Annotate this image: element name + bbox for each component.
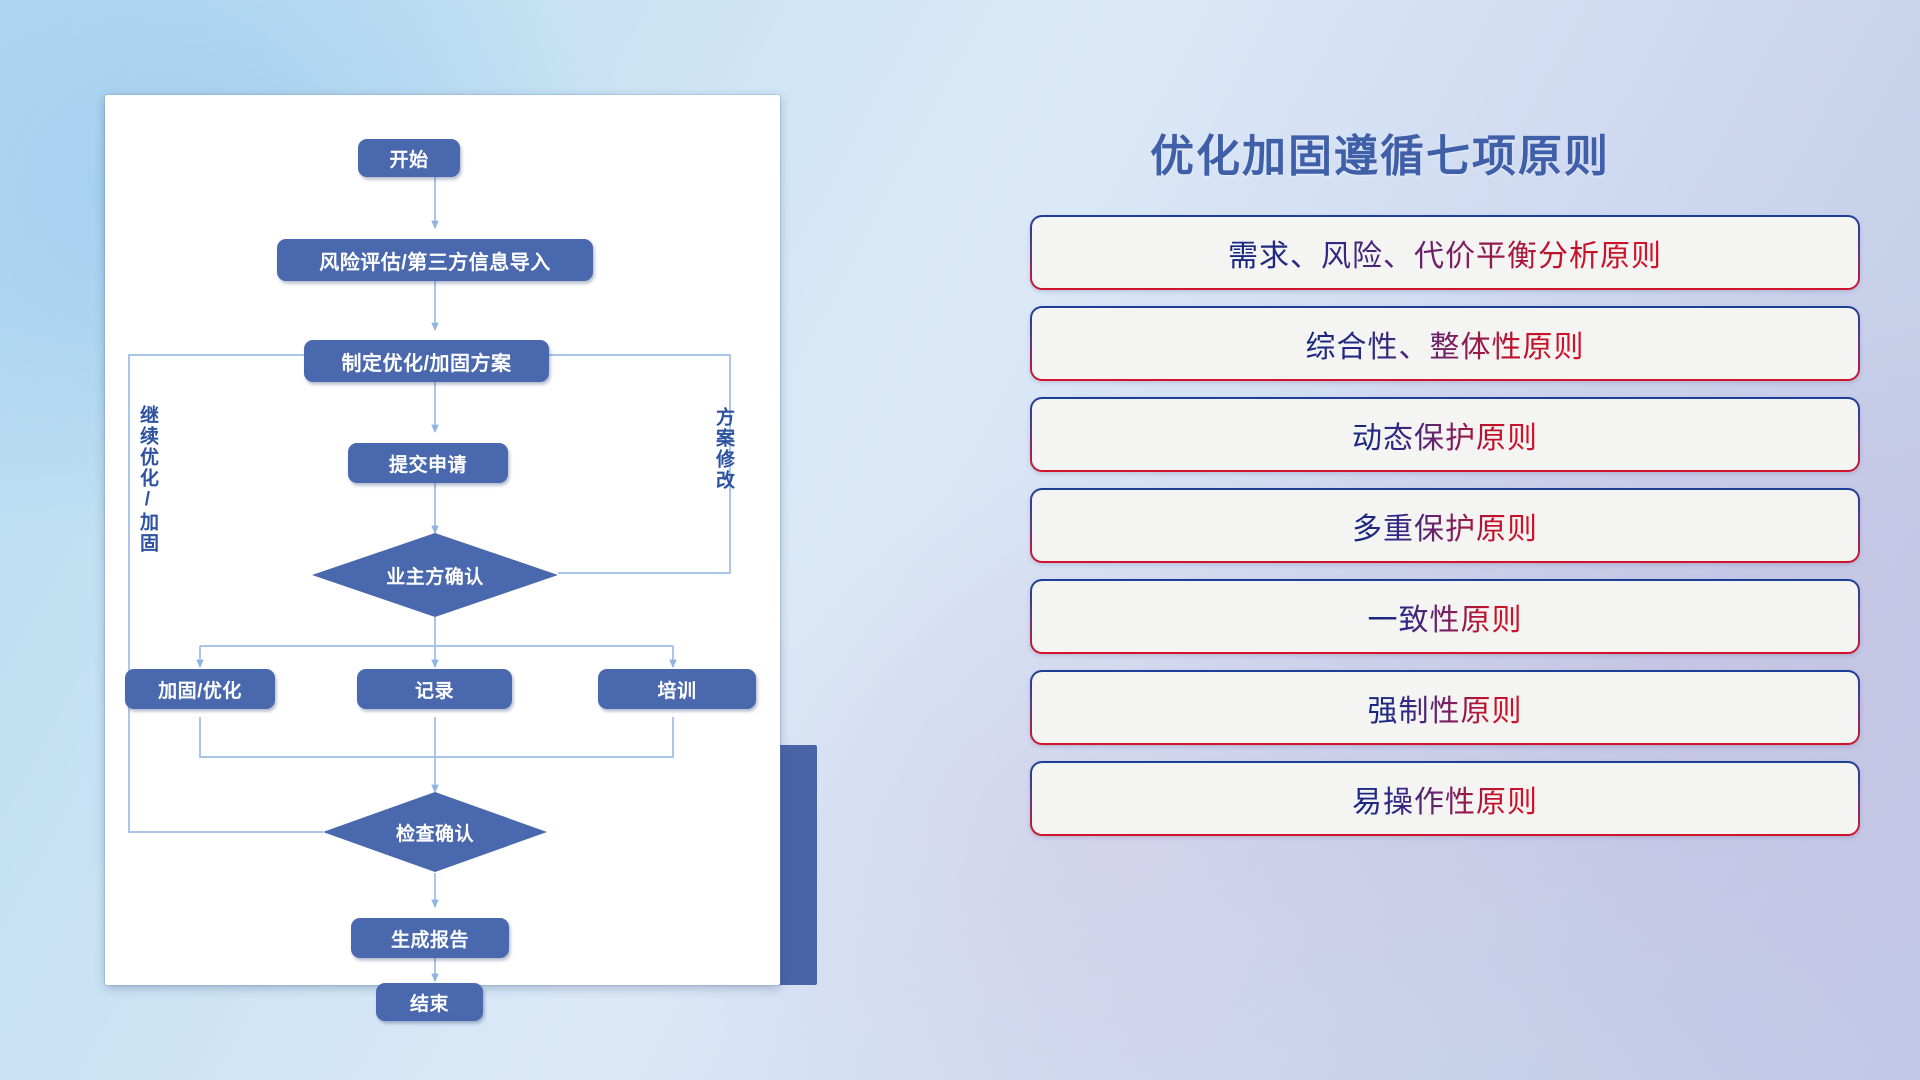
loop-label-left: 继续优化/加固 (137, 405, 157, 554)
flow-node-training[interactable]: 培训 (598, 669, 756, 709)
principle-card-face: 强制性原则 (1032, 672, 1858, 743)
principle-label: 需求、风险、代价平衡分析原则 (1228, 231, 1662, 275)
flow-node-start[interactable]: 开始 (358, 139, 460, 177)
loop-label-right: 方案修改 (713, 407, 733, 491)
principle-card-face: 动态保护原则 (1032, 399, 1858, 470)
flow-node-submit[interactable]: 提交申请 (348, 443, 508, 483)
principle-card[interactable]: 需求、风险、代价平衡分析原则 (1030, 215, 1860, 290)
flow-node-label: 培训 (657, 676, 696, 703)
principle-label: 强制性原则 (1368, 686, 1523, 730)
flow-node-record[interactable]: 记录 (357, 669, 512, 709)
principle-card-face: 易操作性原则 (1032, 763, 1858, 834)
flow-node-label: 结束 (410, 989, 449, 1016)
principle-label: 综合性、整体性原则 (1306, 322, 1585, 366)
principle-card[interactable]: 动态保护原则 (1030, 397, 1860, 472)
flow-node-check-confirm[interactable]: 检查确认 (323, 792, 547, 872)
flow-node-reinforce[interactable]: 加固/优化 (125, 669, 275, 709)
flow-node-label: 加固/优化 (158, 676, 242, 703)
principle-card[interactable]: 一致性原则 (1030, 579, 1860, 654)
principle-card[interactable]: 强制性原则 (1030, 670, 1860, 745)
principle-card[interactable]: 多重保护原则 (1030, 488, 1860, 563)
principle-card-face: 多重保护原则 (1032, 490, 1858, 561)
flow-node-plan[interactable]: 制定优化/加固方案 (304, 340, 549, 382)
principle-card-face: 需求、风险、代价平衡分析原则 (1032, 217, 1858, 288)
principle-card-face: 一致性原则 (1032, 581, 1858, 652)
principles-list: 需求、风险、代价平衡分析原则 综合性、整体性原则 动态保护原则 多重保护原则 (1030, 215, 1860, 852)
flow-node-label: 开始 (389, 145, 428, 172)
flow-node-label: 风险评估/第三方信息导入 (319, 246, 551, 275)
flow-node-label: 记录 (415, 676, 454, 703)
flow-node-end[interactable]: 结束 (376, 983, 483, 1021)
principle-card-face: 综合性、整体性原则 (1032, 308, 1858, 379)
flowchart-card: 开始 风险评估/第三方信息导入 制定优化/加固方案 提交申请 业主方确认 加固/… (105, 95, 780, 985)
flow-node-label: 生成报告 (391, 925, 469, 952)
flow-node-risk-assessment[interactable]: 风险评估/第三方信息导入 (277, 239, 593, 281)
panel-title: 优化加固遵循七项原则 (1150, 120, 1610, 184)
flow-node-report[interactable]: 生成报告 (351, 918, 509, 958)
principle-label: 动态保护原则 (1352, 413, 1538, 457)
principle-card[interactable]: 易操作性原则 (1030, 761, 1860, 836)
principle-card[interactable]: 综合性、整体性原则 (1030, 306, 1860, 381)
flow-node-label: 制定优化/加固方案 (341, 347, 511, 376)
flow-node-owner-confirm[interactable]: 业主方确认 (312, 533, 558, 617)
flow-node-label: 检查确认 (396, 819, 474, 846)
flowchart-canvas: 开始 风险评估/第三方信息导入 制定优化/加固方案 提交申请 业主方确认 加固/… (105, 95, 780, 985)
principles-panel: 优化加固遵循七项原则 需求、风险、代价平衡分析原则 综合性、整体性原则 动态保护… (1030, 95, 1860, 995)
slide-canvas: 开始 风险评估/第三方信息导入 制定优化/加固方案 提交申请 业主方确认 加固/… (0, 0, 1920, 1080)
principle-label: 易操作性原则 (1352, 777, 1538, 821)
flow-node-label: 业主方确认 (386, 562, 484, 589)
principle-label: 一致性原则 (1368, 595, 1523, 639)
principle-label: 多重保护原则 (1352, 504, 1538, 548)
flow-node-label: 提交申请 (389, 450, 467, 477)
